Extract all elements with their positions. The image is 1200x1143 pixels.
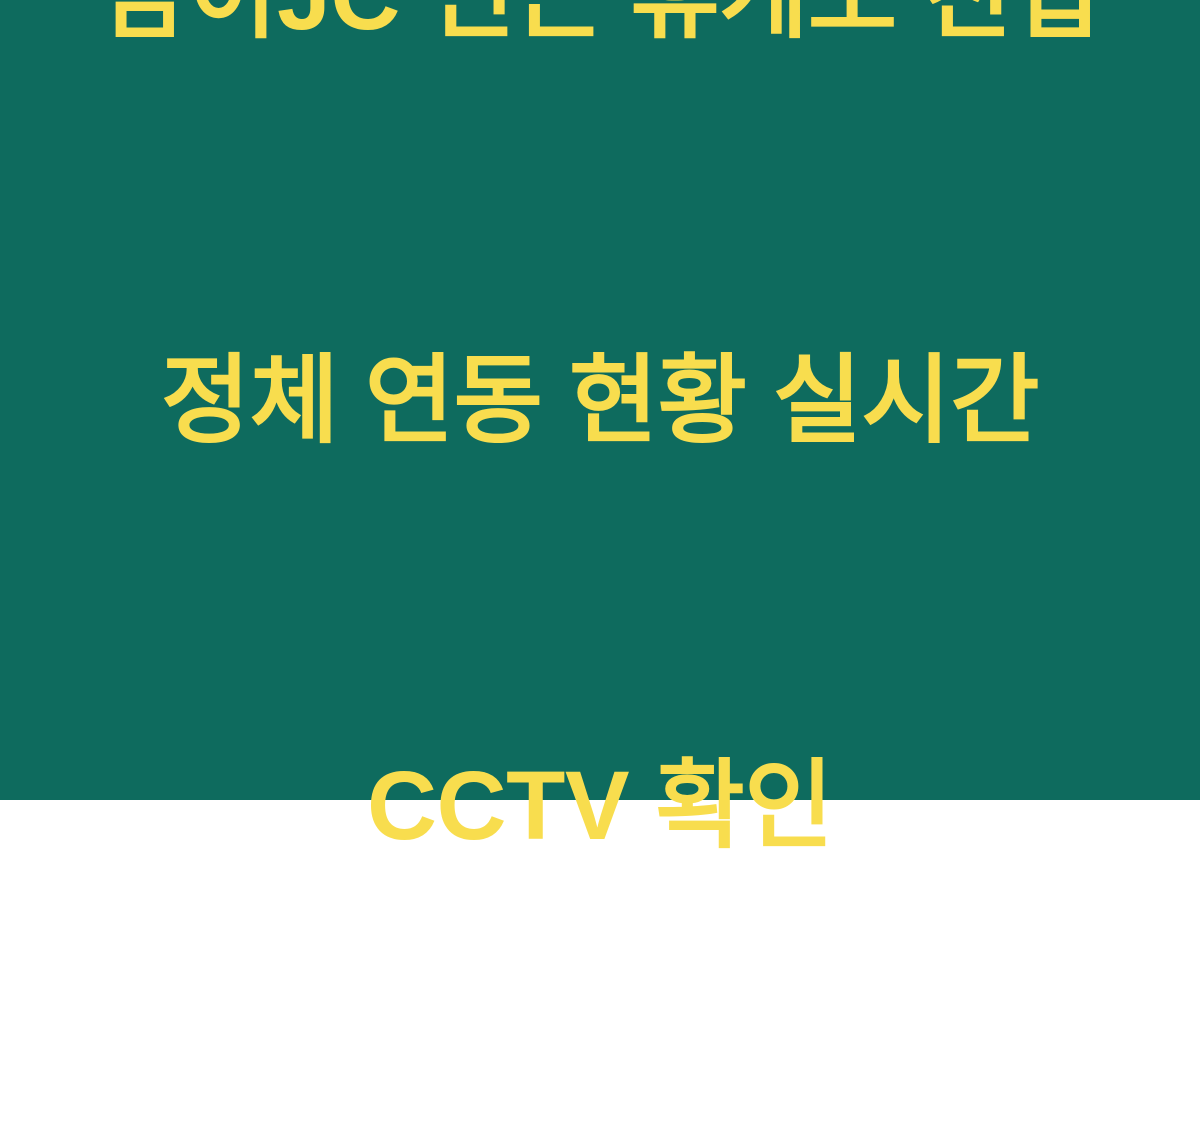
page-title: 남이JC 인근 휴게소 진입 정체 연동 현황 실시간 CCTV 확인 [40,0,1160,1143]
thumbnail-banner: 남이JC 인근 휴게소 진입 정체 연동 현황 실시간 CCTV 확인 [0,0,1200,800]
headline-line-3: CCTV 확인 [40,738,1160,873]
headline-line-2: 정체 연동 현황 실시간 [40,333,1160,468]
headline-line-1: 남이JC 인근 휴게소 진입 [40,0,1160,63]
